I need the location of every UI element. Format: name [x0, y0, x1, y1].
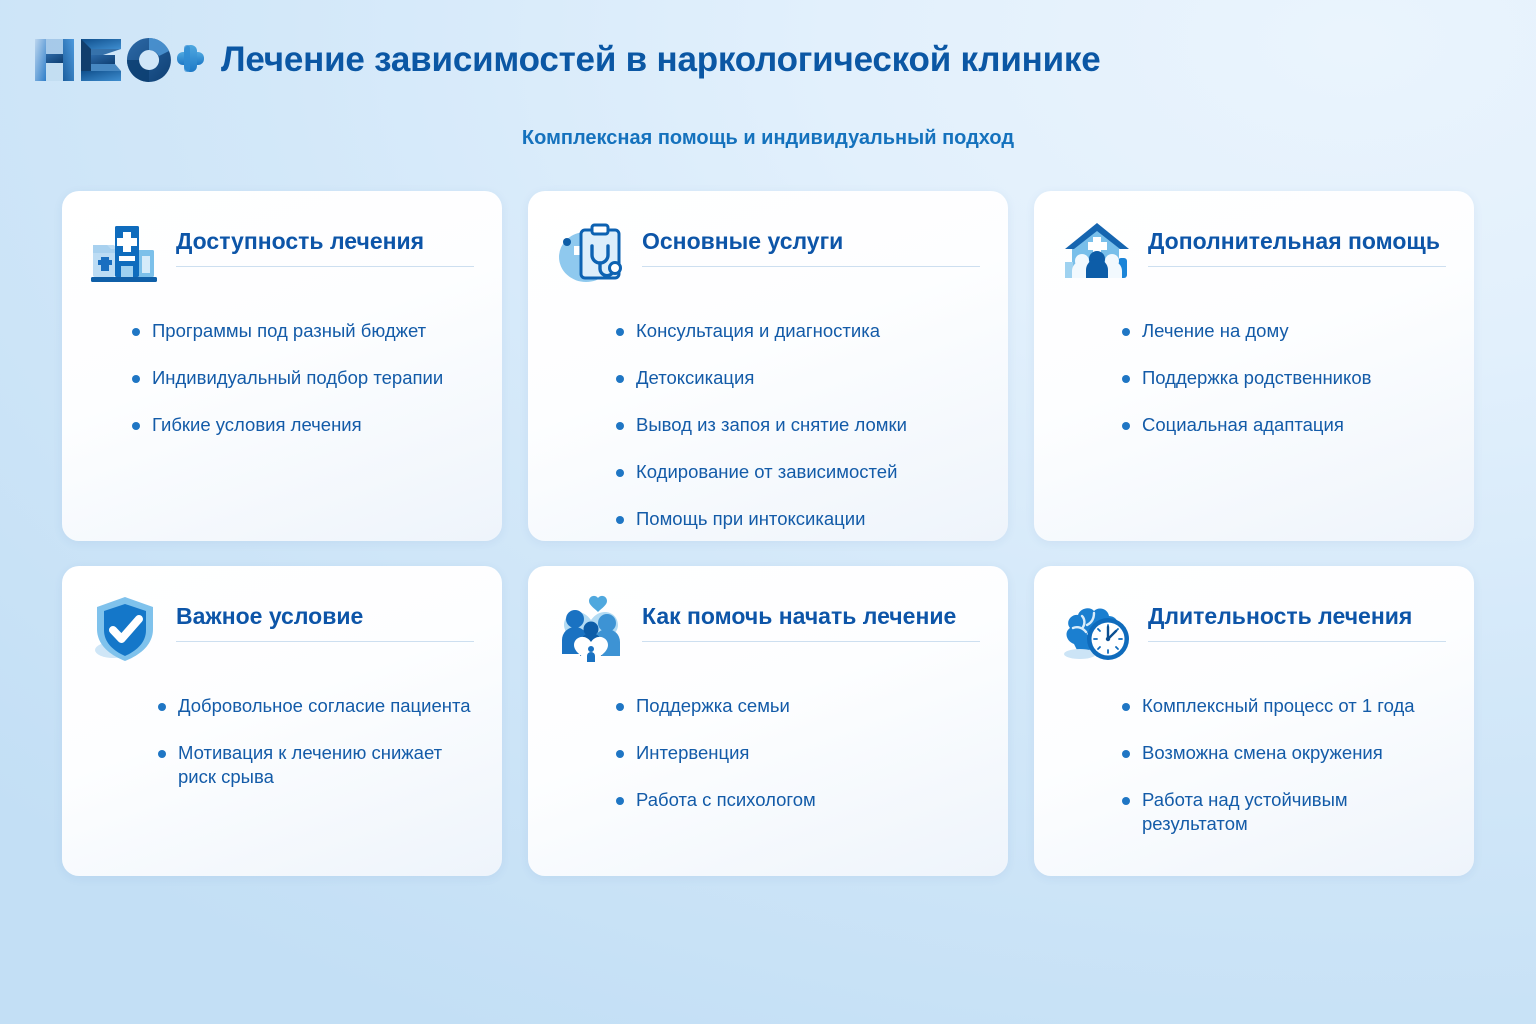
card-title-wrap: Основные услуги — [642, 217, 980, 267]
card-header: Доступность лечения — [88, 217, 474, 293]
list-item: Социальная адаптация — [1122, 413, 1446, 437]
card-title-wrap: Дополнительная помощь — [1148, 217, 1446, 267]
card-title: Основные услуги — [642, 228, 980, 254]
hospital-icon — [88, 217, 162, 291]
list-item: Интервенция — [616, 741, 980, 765]
list-item: Работа с психологом — [616, 788, 980, 812]
card-bullet-list: Программы под разный бюджет Индивидуальн… — [88, 319, 474, 437]
card-header: Как помочь начать лечение — [554, 592, 980, 668]
list-item: Работа над устойчивым результатом — [1122, 788, 1446, 836]
neo-plus-logo-icon — [33, 32, 205, 88]
infographic-page: Лечение зависимостей в наркологической к… — [0, 0, 1536, 1024]
list-item: Лечение на дому — [1122, 319, 1446, 343]
card-title: Длительность лечения — [1148, 603, 1446, 629]
list-item: Индивидуальный подбор терапии — [132, 366, 474, 390]
list-item: Помощь при интоксикации — [616, 507, 980, 531]
list-item: Поддержка родственников — [1122, 366, 1446, 390]
brain-clock-icon — [1060, 592, 1134, 666]
card-title-wrap: Доступность лечения — [176, 217, 474, 267]
title-divider — [642, 641, 980, 642]
card-title: Доступность лечения — [176, 228, 474, 254]
list-item: Консультация и диагностика — [616, 319, 980, 343]
card-header: Дополнительная помощь — [1060, 217, 1446, 293]
cards-grid: Доступность лечения Программы под разный… — [62, 191, 1474, 876]
list-item: Поддержка семьи — [616, 694, 980, 718]
home-care-icon — [1060, 217, 1134, 291]
card-bullet-list: Поддержка семьи Интервенция Работа с пси… — [554, 694, 980, 812]
list-item: Мотивация к лечению снижает риск срыва — [158, 741, 474, 789]
list-item: Вывод из запоя и снятие ломки — [616, 413, 980, 437]
card-title-wrap: Важное условие — [176, 592, 474, 642]
list-item: Кодирование от зависимостей — [616, 460, 980, 484]
card-bullet-list: Комплексный процесс от 1 года Возможна с… — [1060, 694, 1446, 836]
card-header: Длительность лечения — [1060, 592, 1446, 668]
list-item: Программы под разный бюджет — [132, 319, 474, 343]
family-heart-icon — [554, 592, 628, 666]
list-item: Добровольное согласие пациента — [158, 694, 474, 718]
card-header: Основные услуги — [554, 217, 980, 293]
title-divider — [176, 641, 474, 642]
card-additional-help[interactable]: Дополнительная помощь Лечение на дому По… — [1034, 191, 1474, 541]
list-item: Детоксикация — [616, 366, 980, 390]
card-title: Дополнительная помощь — [1148, 228, 1446, 254]
card-bullet-list: Лечение на дому Поддержка родственников … — [1060, 319, 1446, 437]
card-main-services[interactable]: Основные услуги Консультация и диагности… — [528, 191, 1008, 541]
card-availability[interactable]: Доступность лечения Программы под разный… — [62, 191, 502, 541]
page-title: Лечение зависимостей в наркологической к… — [221, 32, 1101, 88]
card-treatment-duration[interactable]: Длительность лечения Комплексный процесс… — [1034, 566, 1474, 876]
title-divider — [642, 266, 980, 267]
card-header: Важное условие — [88, 592, 474, 668]
clipboard-stethoscope-icon — [554, 217, 628, 291]
page-subtitle: Комплексная помощь и индивидуальный подх… — [0, 127, 1536, 150]
list-item: Возможна смена окружения — [1122, 741, 1446, 765]
title-divider — [1148, 641, 1446, 642]
card-title-wrap: Как помочь начать лечение — [642, 592, 980, 642]
list-item: Гибкие условия лечения — [132, 413, 474, 437]
brand-row: Лечение зависимостей в наркологической к… — [33, 32, 1101, 88]
card-important-condition[interactable]: Важное условие Добровольное согласие пац… — [62, 566, 502, 876]
card-bullet-list: Консультация и диагностика Детоксикация … — [554, 319, 980, 531]
title-divider — [176, 266, 474, 267]
list-item: Комплексный процесс от 1 года — [1122, 694, 1446, 718]
title-divider — [1148, 266, 1446, 267]
card-title: Как помочь начать лечение — [642, 603, 980, 629]
card-how-to-start[interactable]: Как помочь начать лечение Поддержка семь… — [528, 566, 1008, 876]
shield-check-icon — [88, 592, 162, 666]
card-title-wrap: Длительность лечения — [1148, 592, 1446, 642]
card-bullet-list: Добровольное согласие пациента Мотивация… — [88, 694, 474, 789]
card-title: Важное условие — [176, 603, 474, 629]
page-header: Лечение зависимостей в наркологической к… — [0, 0, 1536, 170]
